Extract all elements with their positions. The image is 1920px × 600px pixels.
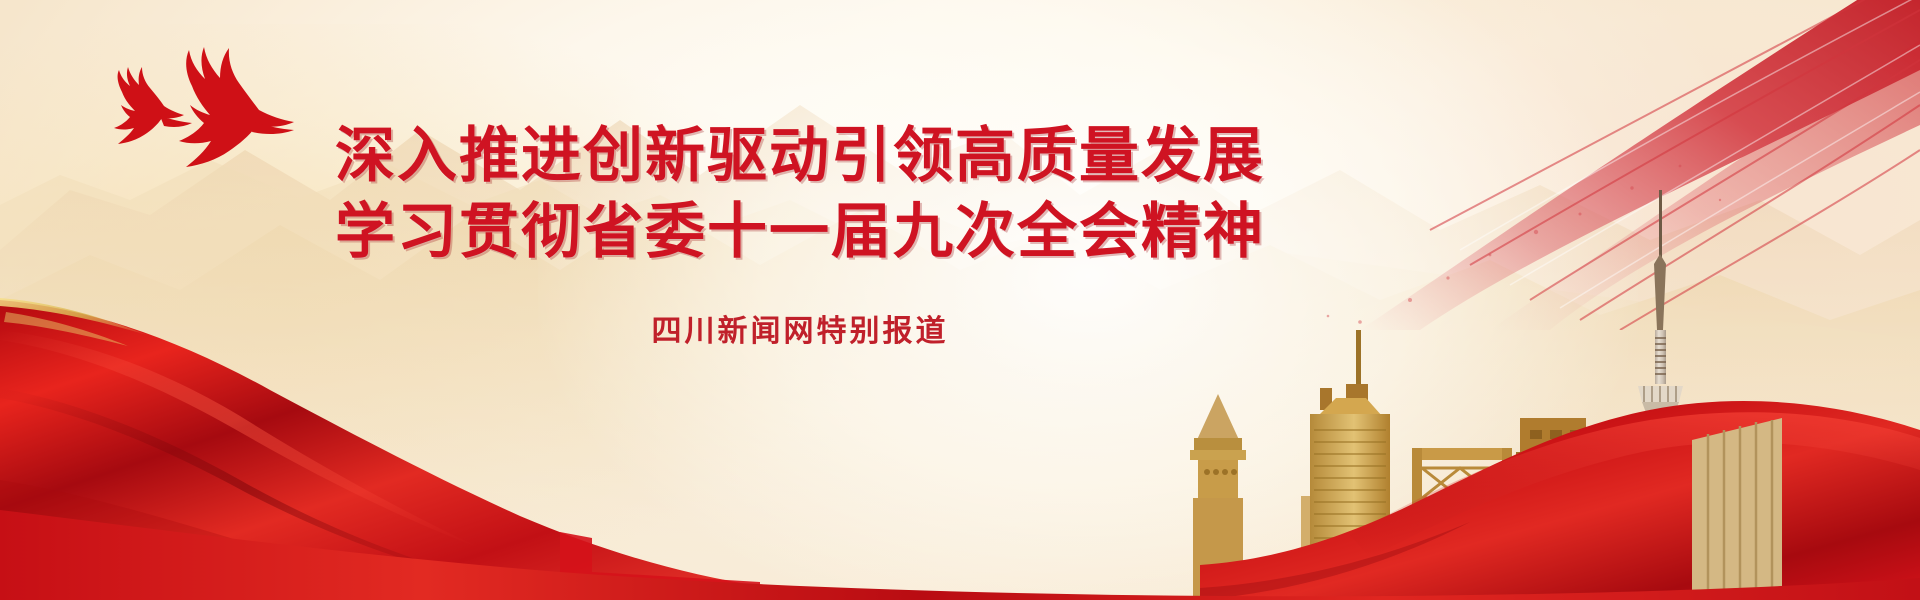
- banner-subtitle: 四川新闻网特别报道: [0, 306, 1600, 350]
- headline-line-2: 学习贯彻省委十一届九次全会精神: [0, 194, 1600, 270]
- news-special-report-banner: 深入推进创新驱动引领高质量发展 学习贯彻省委十一届九次全会精神 四川新闻网特别报…: [0, 0, 1920, 600]
- banner-headline: 深入推进创新驱动引领高质量发展 学习贯彻省委十一届九次全会精神: [0, 118, 1600, 270]
- red-base-strip-icon: [0, 470, 1920, 600]
- headline-line-1: 深入推进创新驱动引领高质量发展: [0, 118, 1600, 194]
- banner-text-block: 深入推进创新驱动引领高质量发展 学习贯彻省委十一届九次全会精神 四川新闻网特别报…: [0, 118, 1600, 350]
